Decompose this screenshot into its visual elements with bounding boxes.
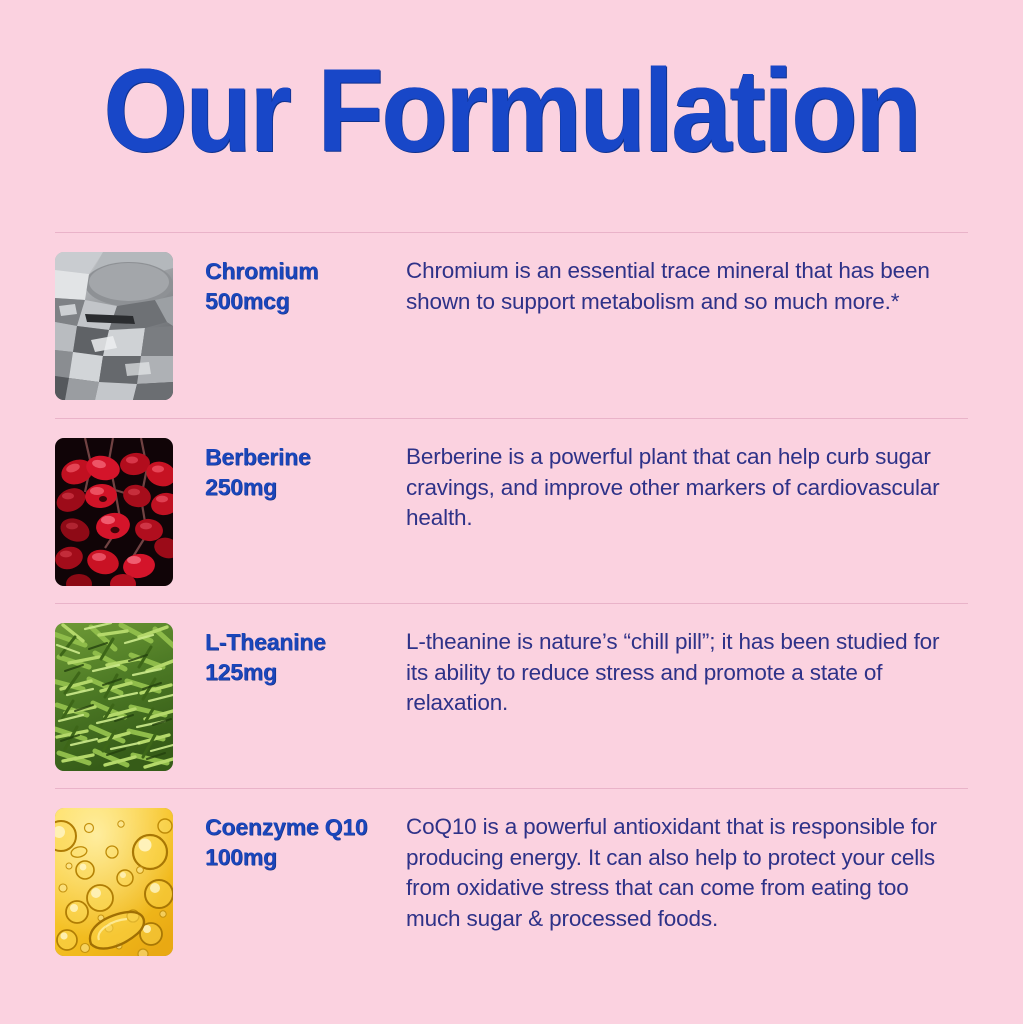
ingredient-list: Chromium 500mcg Chromium is an essential… xyxy=(55,232,968,983)
ingredient-name-column: Berberine 250mg xyxy=(173,438,406,502)
ingredient-description-column: L-theanine is nature’s “chill pill”; it … xyxy=(406,623,968,719)
ingredient-name-column: Chromium 500mcg xyxy=(173,252,406,316)
ingredient-row: Berberine 250mg Berberine is a powerful … xyxy=(55,418,968,603)
ingredient-row: Coenzyme Q10 100mg CoQ10 is a powerful a… xyxy=(55,788,968,983)
ingredient-description-column: CoQ10 is a powerful antioxidant that is … xyxy=(406,808,968,934)
ingredient-dose: 125mg xyxy=(205,657,406,687)
ingredient-description-column: Berberine is a powerful plant that can h… xyxy=(406,438,968,534)
ingredient-description-column: Chromium is an essential trace mineral t… xyxy=(406,252,968,317)
ingredient-name: Chromium xyxy=(205,256,406,286)
ingredient-dose: 500mcg xyxy=(205,286,406,316)
ingredient-dose: 250mg xyxy=(205,472,406,502)
l-theanine-green-tea-leaves-photo xyxy=(55,623,173,771)
ingredient-name-column: Coenzyme Q10 100mg xyxy=(173,808,406,872)
page-title-container: Our Formulation xyxy=(0,52,1023,170)
berberine-red-berries-photo xyxy=(55,438,173,586)
ingredient-name-column: L-Theanine 125mg xyxy=(173,623,406,687)
ingredient-name: Berberine xyxy=(205,442,406,472)
ingredient-name: Coenzyme Q10 xyxy=(205,812,406,842)
ingredient-description: Chromium is an essential trace mineral t… xyxy=(406,256,962,317)
ingredient-description: L-theanine is nature’s “chill pill”; it … xyxy=(406,627,962,719)
chromium-mineral-crystals-photo xyxy=(55,252,173,400)
ingredient-description: Berberine is a powerful plant that can h… xyxy=(406,442,962,534)
formulation-page: Our Formulation xyxy=(0,0,1023,1024)
coq10-golden-oil-bubbles-photo xyxy=(55,808,173,956)
ingredient-description: CoQ10 is a powerful antioxidant that is … xyxy=(406,812,962,934)
ingredient-row: L-Theanine 125mg L-theanine is nature’s … xyxy=(55,603,968,788)
ingredient-dose: 100mg xyxy=(205,842,406,872)
page-title: Our Formulation xyxy=(104,52,920,170)
ingredient-row: Chromium 500mcg Chromium is an essential… xyxy=(55,232,968,418)
ingredient-name: L-Theanine xyxy=(205,627,406,657)
